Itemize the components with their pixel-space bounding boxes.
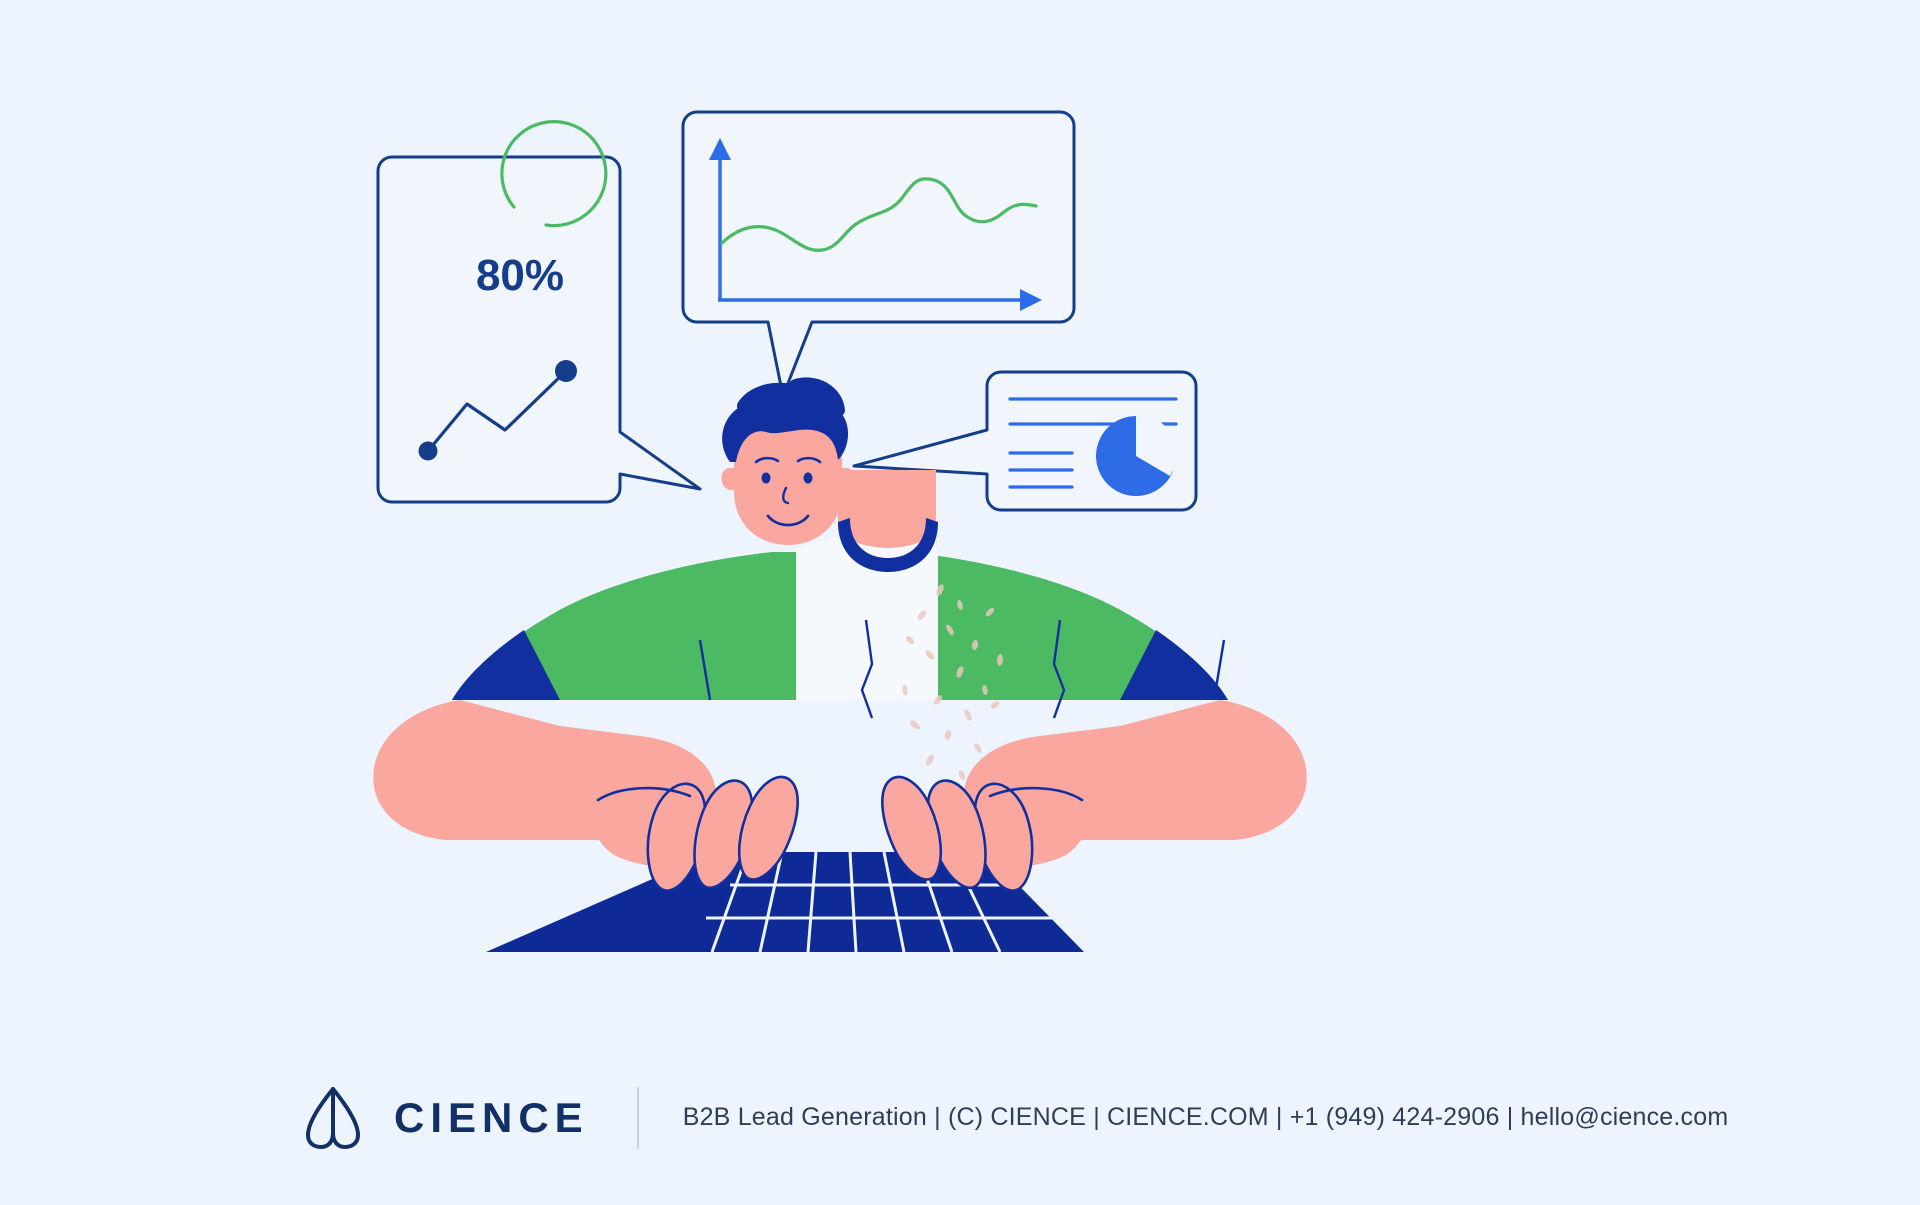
donut-value-label: 80% (440, 245, 600, 307)
cience-logo-icon (300, 1085, 366, 1151)
hero-illustration: 80% (0, 0, 1920, 1030)
page-root: 80% CIENCE B2B Lead Generation | (C) CIE… (0, 0, 1920, 1205)
eye-right (804, 473, 813, 484)
footer-bar: CIENCE B2B Lead Generation | (C) CIENCE … (0, 1030, 1920, 1205)
cience-wordmark: CIENCE (394, 1097, 589, 1139)
footer-tagline: B2B Lead Generation | (C) CIENCE | CIENC… (683, 1103, 1729, 1132)
footer-divider (637, 1087, 639, 1149)
brand-lockup[interactable]: CIENCE (300, 1085, 589, 1151)
eye-left (762, 473, 771, 484)
